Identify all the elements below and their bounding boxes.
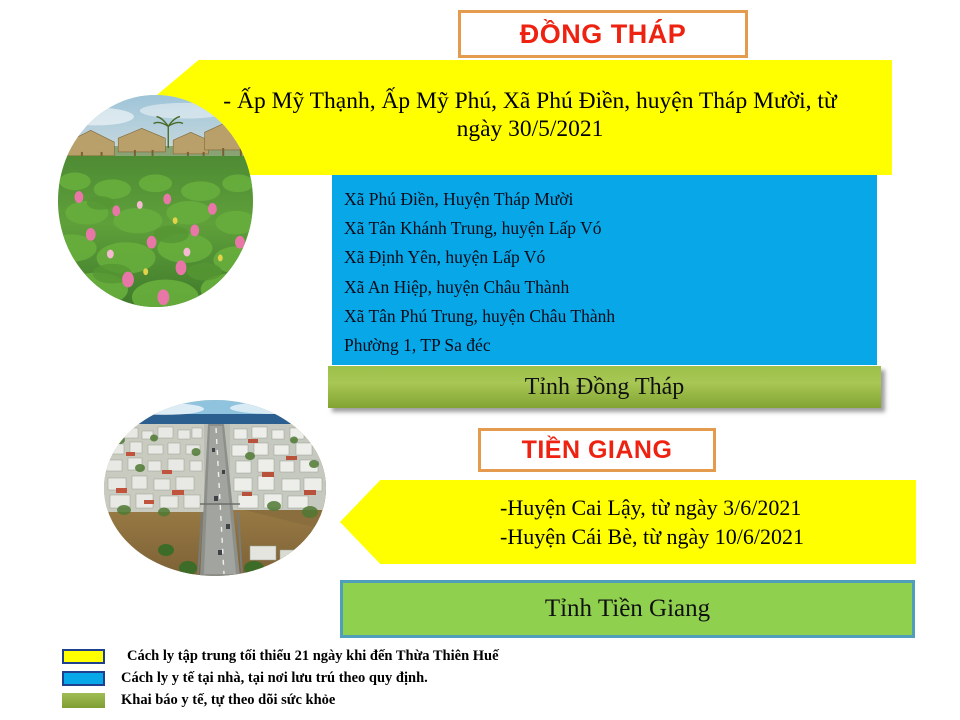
legend-label: Cách ly y tế tại nhà, tại nơi lưu trú th… (121, 668, 428, 688)
lotus-field-photo (58, 95, 253, 307)
legend-row: Cách ly tập trung tối thiểu 21 ngày khi … (62, 646, 662, 668)
page-title-dongthap: ĐỒNG THÁP (520, 19, 687, 50)
list-item: Xã Phú Điền, Huyện Tháp Mười (344, 185, 877, 214)
dongthap-banner-text: - Ấp Mỹ Thạnh, Ấp Mỹ Phú, Xã Phú Điền, h… (200, 88, 860, 143)
legend: Cách ly tập trung tối thiểu 21 ngày khi … (62, 646, 662, 712)
legend-swatch-green (62, 693, 105, 708)
legend-swatch-blue (62, 671, 105, 686)
city-aerial-photo (104, 400, 326, 576)
dongthap-blue-list-box: Xã Phú Điền, Huyện Tháp Mười Xã Tân Khán… (332, 175, 877, 365)
list-item: Xã Định Yên, huyện Lấp Vó (344, 243, 877, 272)
tiengiang-banner-line-1: -Huyện Cai Lậy, từ ngày 3/6/2021 (500, 493, 900, 522)
legend-swatch-yellow (62, 649, 105, 664)
list-item: Xã Tân Phú Trung, huyện Châu Thành (344, 302, 877, 331)
page-title-tiengiang: TIỀN GIANG (522, 436, 673, 465)
tiengiang-province-label: Tỉnh Tiền Giang (545, 595, 710, 623)
dongthap-title-box: ĐỒNG THÁP (458, 10, 748, 58)
slide-canvas: - Ấp Mỹ Thạnh, Ấp Mỹ Phú, Xã Phú Điền, h… (0, 0, 960, 720)
legend-label: Khai báo y tế, tự theo dõi sức khỏe (121, 690, 335, 710)
list-item: Phường 1, TP Sa đéc (344, 331, 877, 360)
dongthap-locality-list: Xã Phú Điền, Huyện Tháp Mười Xã Tân Khán… (344, 185, 877, 360)
tiengiang-title-box: TIỀN GIANG (478, 428, 716, 472)
list-item: Xã An Hiệp, huyện Châu Thành (344, 273, 877, 302)
tiengiang-banner-line-2: -Huyện Cái Bè, từ ngày 10/6/2021 (500, 522, 900, 551)
legend-row: Khai báo y tế, tự theo dõi sức khỏe (62, 690, 662, 712)
legend-row: Cách ly y tế tại nhà, tại nơi lưu trú th… (62, 668, 662, 690)
dongthap-province-label: Tỉnh Đồng Tháp (525, 374, 685, 401)
tiengiang-banner-text: -Huyện Cai Lậy, từ ngày 3/6/2021 -Huyện … (470, 493, 900, 551)
legend-label: Cách ly tập trung tối thiểu 21 ngày khi … (127, 646, 499, 666)
dongthap-province-banner: Tỉnh Đồng Tháp (328, 366, 881, 408)
list-item: Xã Tân Khánh Trung, huyện Lấp Vó (344, 214, 877, 243)
tiengiang-province-banner: Tỉnh Tiền Giang (340, 580, 915, 638)
